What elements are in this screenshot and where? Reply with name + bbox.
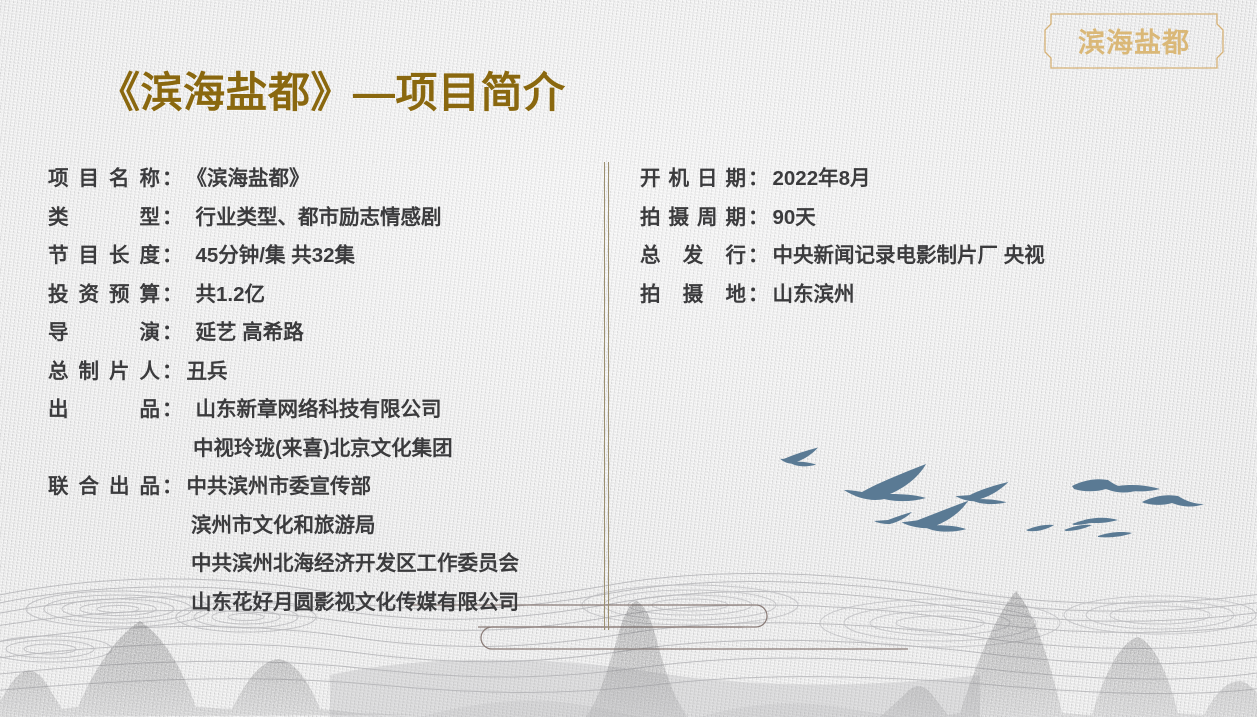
mountain-center-peak <box>586 601 688 717</box>
left-info-value: 行业类型、都市励志情感剧 <box>184 199 442 238</box>
left-info-value: 共1.2亿 <box>184 276 266 315</box>
left-info-colon: ： <box>162 237 183 276</box>
logo-svg: 滨海盐都 <box>1039 10 1229 72</box>
left-info-value: 中共滨州市委宣传部 <box>184 468 372 507</box>
right-info-row: 开机日期：2022年8月 <box>640 160 1200 199</box>
right-info-value: 90天 <box>770 199 816 238</box>
bird-group <box>780 448 1204 538</box>
left-info-colon: ： <box>162 314 183 353</box>
right-info-column: 开机日期：2022年8月拍摄周期：90天总发行：中央新闻记录电影制片厂 央视拍摄… <box>640 160 1200 314</box>
left-info-value: 滨州市文化和旅游局 <box>163 507 376 546</box>
right-info-colon: ： <box>748 237 769 276</box>
right-info-row: 总发行：中央新闻记录电影制片厂 央视 <box>640 237 1200 276</box>
left-info-row: 出品：山东新章网络科技有限公司 <box>48 391 593 430</box>
left-info-colon: ： <box>162 199 183 238</box>
left-info-row: 导演：延艺 高希路 <box>48 314 593 353</box>
left-info-value: 中视玲珑(来喜)北京文化集团 <box>163 430 453 469</box>
logo-border-frame <box>1045 14 1223 68</box>
left-info-row: 联合出品：中共滨州市委宣传部 <box>48 468 593 507</box>
mountain-range-right <box>880 591 1257 717</box>
right-info-label: 拍摄周期 <box>640 199 746 238</box>
left-info-row: 滨州市文化和旅游局 <box>48 507 593 546</box>
left-info-row: 中共滨州北海经济开发区工作委员会 <box>48 545 593 584</box>
left-info-value: 《滨海盐都》 <box>184 160 310 199</box>
right-info-label: 开机日期 <box>640 160 746 199</box>
left-info-label: 项目名称 <box>48 160 160 199</box>
right-info-label: 总发行 <box>640 237 746 276</box>
column-divider <box>604 162 609 630</box>
left-info-label: 总制片人 <box>48 353 160 392</box>
left-info-colon: ： <box>162 353 183 392</box>
left-info-row: 山东花好月圆影视文化传媒有限公司 <box>48 584 593 623</box>
right-info-colon: ： <box>748 199 769 238</box>
birds-svg <box>780 440 1257 580</box>
logo-text: 滨海盐都 <box>1078 27 1190 59</box>
right-info-value: 中央新闻记录电影制片厂 央视 <box>770 237 1045 276</box>
right-info-value: 2022年8月 <box>770 160 871 199</box>
brand-logo: 滨海盐都 <box>1039 10 1229 72</box>
left-info-row: 投资预算：共1.2亿 <box>48 276 593 315</box>
left-info-label: 出品 <box>48 391 160 430</box>
right-info-label: 拍摄地 <box>640 276 746 315</box>
left-info-colon: ： <box>162 160 183 199</box>
left-info-column: 项目名称：《滨海盐都》类型：行业类型、都市励志情感剧节目长度：45分钟/集 共3… <box>48 160 593 622</box>
left-info-row: 项目名称：《滨海盐都》 <box>48 160 593 199</box>
left-info-colon: ： <box>162 468 183 507</box>
left-info-row: 节目长度：45分钟/集 共32集 <box>48 237 593 276</box>
left-info-row: 总制片人：丑兵 <box>48 353 593 392</box>
right-info-value: 山东滨州 <box>770 276 855 315</box>
right-info-row: 拍摄周期：90天 <box>640 199 1200 238</box>
mountain-far-haze <box>420 701 896 717</box>
left-info-row: 类型：行业类型、都市励志情感剧 <box>48 199 593 238</box>
left-info-row: 中视玲珑(来喜)北京文化集团 <box>48 430 593 469</box>
left-info-label: 投资预算 <box>48 276 160 315</box>
ink-haze <box>330 660 980 717</box>
presentation-slide: 滨海盐都 《滨海盐都》—项目简介 项目名称：《滨海盐都》类型：行业类型、都市励志… <box>0 0 1257 717</box>
left-info-value: 山东新章网络科技有限公司 <box>184 391 442 430</box>
left-info-value: 丑兵 <box>184 353 228 392</box>
right-info-colon: ： <box>748 276 769 315</box>
left-info-label: 节目长度 <box>48 237 160 276</box>
left-info-value: 延艺 高希路 <box>184 314 304 353</box>
seagull-flock-decoration <box>780 440 1257 580</box>
left-info-value: 中共滨州北海经济开发区工作委员会 <box>163 545 519 584</box>
right-info-colon: ： <box>748 160 769 199</box>
left-info-label: 导演 <box>48 314 160 353</box>
left-info-colon: ： <box>162 391 183 430</box>
page-title: 《滨海盐都》—项目简介 <box>98 72 566 114</box>
wave-eddy-right <box>582 585 1256 647</box>
left-info-label: 类型 <box>48 199 160 238</box>
right-info-row: 拍摄地：山东滨州 <box>640 276 1200 315</box>
left-info-colon: ： <box>162 276 183 315</box>
left-info-value: 山东花好月圆影视文化传媒有限公司 <box>163 584 519 623</box>
left-info-label: 联合出品 <box>48 468 160 507</box>
left-info-value: 45分钟/集 共32集 <box>184 237 356 276</box>
mountain-range <box>0 621 420 717</box>
